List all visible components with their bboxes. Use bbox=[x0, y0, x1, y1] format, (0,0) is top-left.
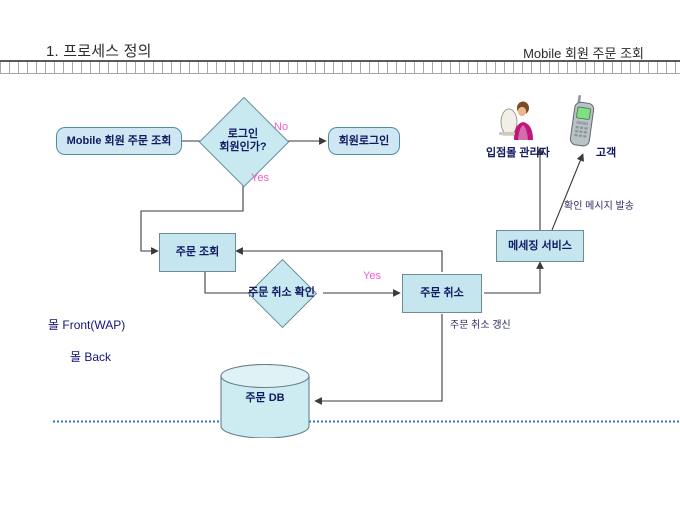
node-cancel-decision-label: 주문 취소 확인 bbox=[248, 286, 315, 299]
node-login-decision-label: 로그인 회원인가? bbox=[219, 128, 266, 154]
lane-label-back: 몰 Back bbox=[70, 348, 111, 365]
edge-label-yes-login: Yes bbox=[251, 172, 269, 184]
node-order-cancel[interactable]: 주문 취소 bbox=[402, 274, 482, 313]
actor-admin-caption: 입점몰 관리자 bbox=[486, 144, 550, 160]
person-icon bbox=[496, 98, 538, 142]
note-send-confirm-message: 확인 메시지 발송 bbox=[564, 197, 634, 212]
edge-cancel-to-db bbox=[315, 314, 442, 401]
node-start-label: Mobile 회원 주문 조회 bbox=[67, 135, 172, 148]
node-order-inquiry-label: 주문 조회 bbox=[176, 246, 220, 259]
page-title: 1. 프로세스 정의 bbox=[46, 40, 152, 61]
node-cancel-decision[interactable]: 주문 취소 확인 bbox=[258, 269, 305, 316]
header-ruler-band bbox=[0, 62, 680, 74]
edge-label-yes-cancel: Yes bbox=[363, 270, 381, 282]
node-login-decision[interactable]: 로그인 회원인가? bbox=[212, 110, 274, 172]
node-order-inquiry[interactable]: 주문 조회 bbox=[159, 233, 236, 272]
lane-divider bbox=[52, 420, 680, 423]
lane-label-front: 몰 Front(WAP) bbox=[48, 316, 125, 333]
process-flow-diagram: Mobile 회원 주문 조회 로그인 회원인가? No 회원로그인 Yes 주… bbox=[0, 76, 680, 510]
node-order-cancel-label: 주문 취소 bbox=[420, 287, 464, 300]
node-messaging-service-label: 메세징 서비스 bbox=[508, 240, 572, 253]
page-header: 1. 프로세스 정의 Mobile 회원 주문 조회 bbox=[0, 0, 680, 76]
node-member-login-label: 회원로그인 bbox=[339, 135, 390, 148]
node-login-decision-line1: 로그인 bbox=[228, 128, 258, 140]
mobile-phone-icon bbox=[566, 94, 604, 148]
node-login-decision-line2: 회원인가? bbox=[219, 141, 266, 153]
node-order-db-label: 주문 DB bbox=[220, 389, 310, 405]
node-member-login[interactable]: 회원로그인 bbox=[328, 127, 400, 155]
node-start[interactable]: Mobile 회원 주문 조회 bbox=[56, 127, 182, 155]
note-cancel-update: 주문 취소 갱신 bbox=[450, 316, 511, 331]
edge-messaging-to-customer bbox=[552, 154, 583, 230]
edge-cancel-to-messaging bbox=[484, 262, 540, 293]
edge-label-no: No bbox=[274, 121, 288, 133]
actor-customer-caption: 고객 bbox=[596, 144, 616, 160]
node-messaging-service[interactable]: 메세징 서비스 bbox=[496, 230, 584, 262]
